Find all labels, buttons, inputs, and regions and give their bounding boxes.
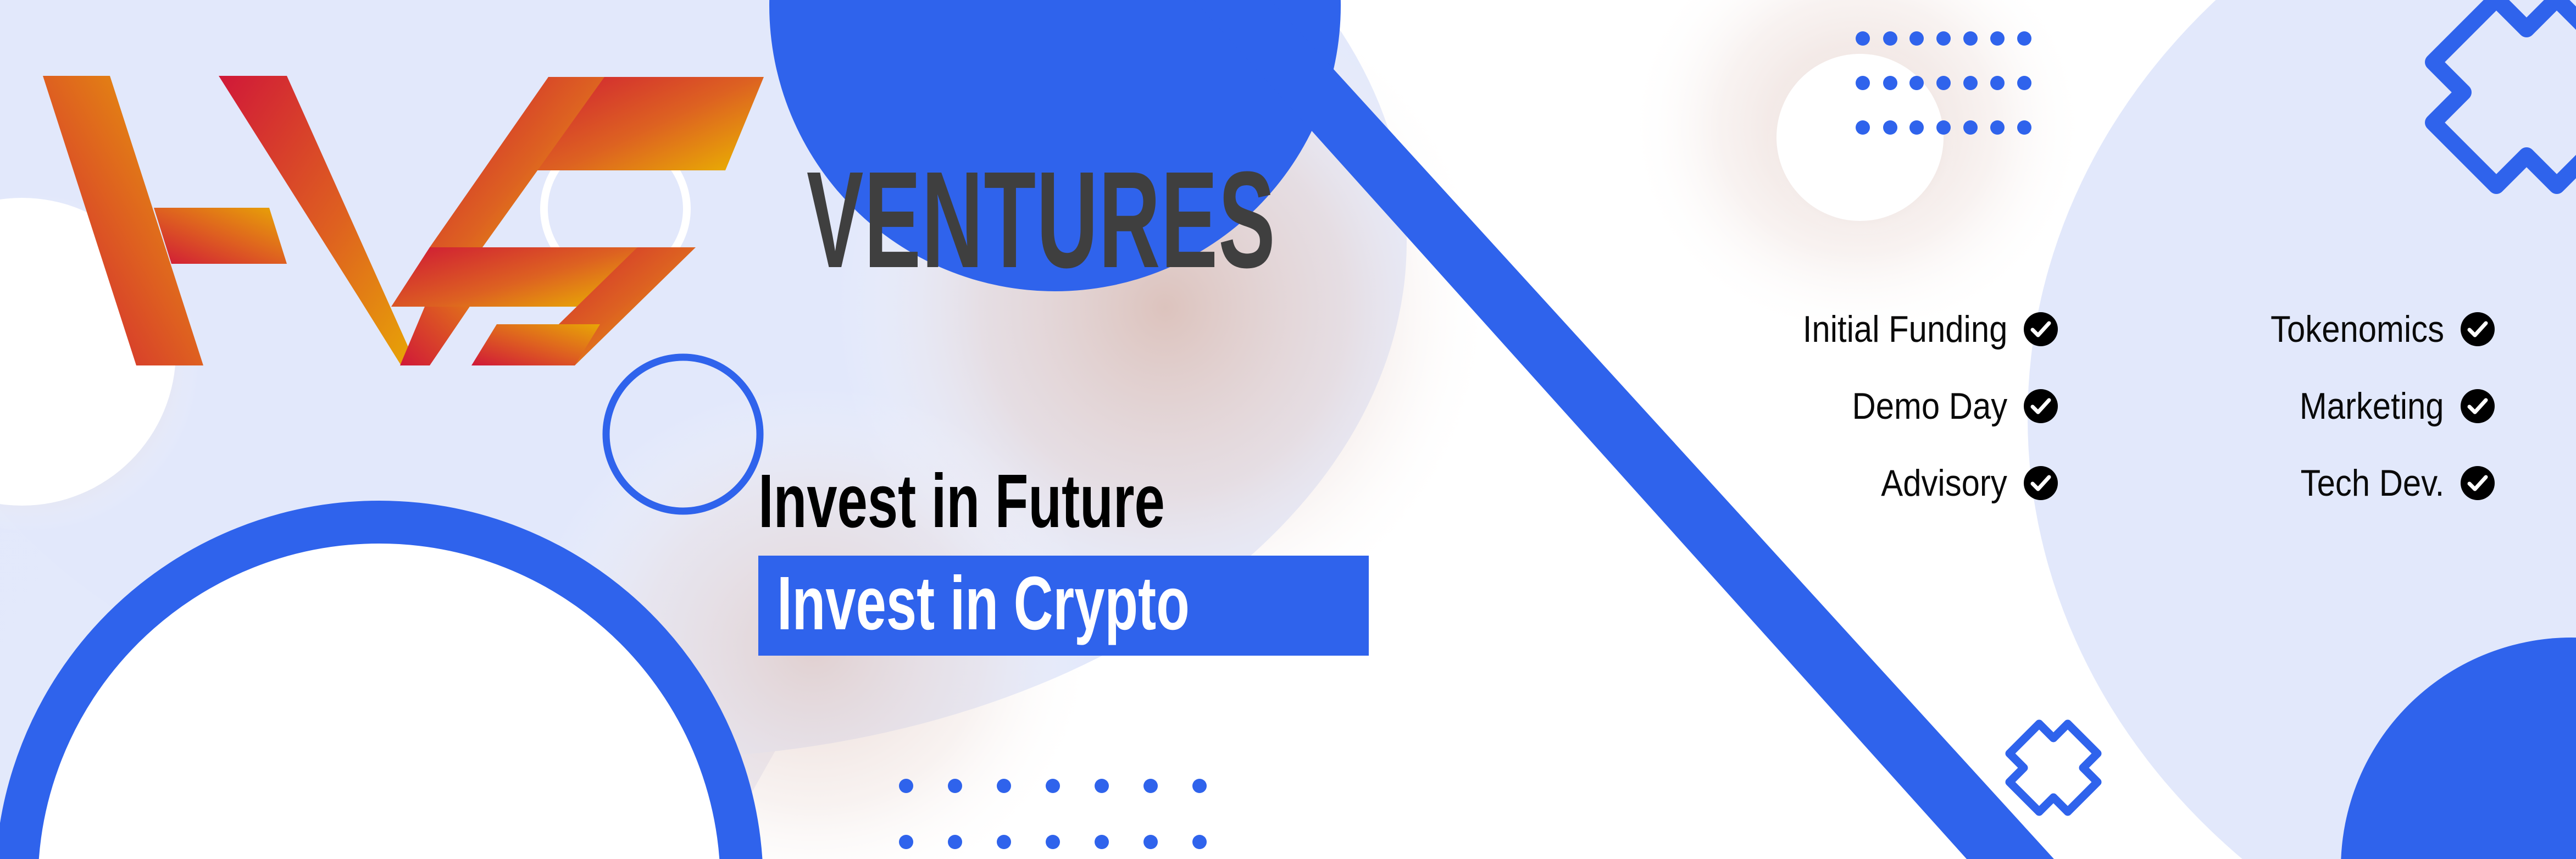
check-circle-icon [2461,389,2495,423]
check-circle-icon [2024,312,2058,346]
services-column-left: Initial Funding Demo Day Advisory [1676,311,2058,502]
hvs-ventures-banner: VENTURES Invest in Future Invest in Cryp… [0,0,2576,859]
headline-line-2: Invest in Crypto [777,566,1190,641]
check-circle-icon [2024,466,2058,500]
cross-x-top-right [2433,0,2576,186]
services-column-right: Tokenomics Marketing Tech Dev. [2113,311,2495,502]
hvs-monogram-icon [22,66,780,374]
white-circle-topright [1776,54,1944,221]
service-item[interactable]: Demo Day [1676,387,2058,425]
dot-grid-bottom [899,779,1207,849]
dot-grid-top [1856,31,2031,135]
services-checklist: Initial Funding Demo Day Advisory [1676,311,2495,502]
service-item[interactable]: Tech Dev. [2113,464,2495,502]
headline-highlight-block[interactable]: Invest in Crypto [758,556,1369,656]
check-circle-icon [2461,466,2495,500]
service-item[interactable]: Tokenomics [2113,311,2495,348]
service-label: Tokenomics [2270,311,2444,348]
brand-lockup[interactable]: VENTURES [22,55,1385,385]
service-label: Demo Day [1852,387,2007,425]
service-item[interactable]: Marketing [2113,387,2495,425]
blush-glow-topright [1626,0,2088,341]
check-circle-icon [2024,389,2058,423]
cross-x-bottom-center [2009,724,2097,812]
wordmark: VENTURES [807,151,1276,289]
service-label: Initial Funding [1802,311,2007,348]
service-item[interactable]: Advisory [1676,464,2058,502]
service-label: Tech Dev. [2300,464,2444,502]
service-label: Marketing [2300,387,2444,425]
white-circle-topright-shadow [1767,44,1959,236]
blue-circle-bottom-right [2341,638,2576,859]
headline-line-1: Invest in Future [758,462,1296,541]
service-label: Advisory [1881,464,2007,502]
blue-ring-bottom-left [16,522,742,859]
service-item[interactable]: Initial Funding [1676,311,2058,348]
headline-block: Invest in Future Invest in Crypto [758,462,1506,656]
check-circle-icon [2461,312,2495,346]
